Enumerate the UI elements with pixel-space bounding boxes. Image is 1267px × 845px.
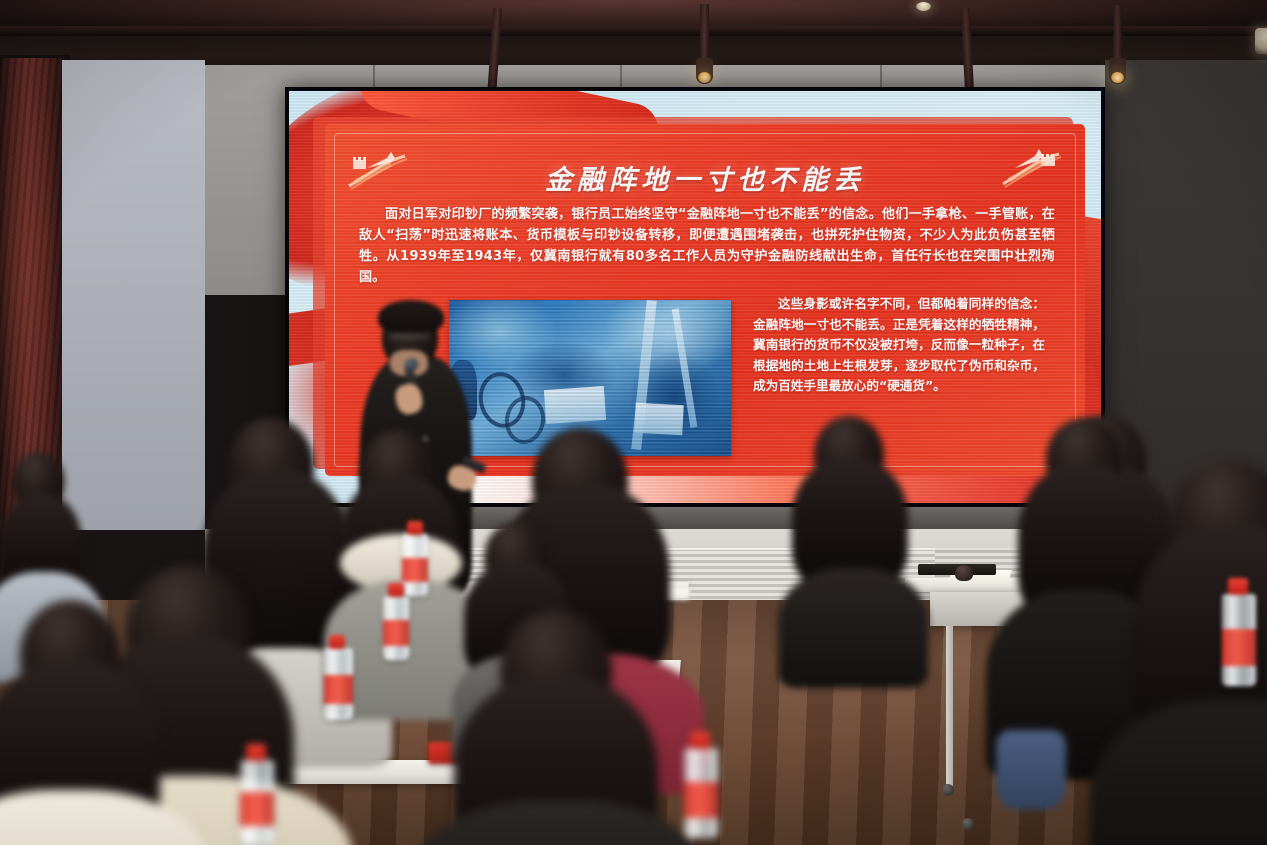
presenter-hair bbox=[378, 300, 444, 334]
bottle-cap bbox=[329, 635, 345, 649]
slide-right-paragraph: 这些身影或许名字不同，但都帕着同样的信念：金融阵地一寸也不能丢。正是凭着这样的牺… bbox=[753, 294, 1045, 397]
ceiling-light bbox=[916, 2, 931, 11]
bottle-cap bbox=[407, 521, 423, 535]
water-bottle bbox=[1222, 594, 1256, 686]
bottle-label bbox=[383, 620, 409, 646]
attendee bbox=[420, 610, 690, 845]
desk-caster bbox=[962, 818, 974, 830]
spotlight-fixture bbox=[1109, 58, 1126, 84]
desk-object bbox=[955, 565, 973, 581]
light-hanger-rod bbox=[700, 4, 709, 64]
attendee bbox=[0, 600, 190, 845]
bottle-cap bbox=[690, 732, 710, 749]
bottle-label bbox=[240, 792, 274, 826]
water-bottle bbox=[684, 748, 718, 838]
water-bottle bbox=[324, 648, 353, 720]
bottle-cap bbox=[388, 583, 404, 597]
ceiling-light bbox=[1255, 28, 1267, 54]
desk-leg bbox=[946, 626, 953, 786]
bottle-cap bbox=[1228, 578, 1248, 595]
bottle-label bbox=[1222, 629, 1256, 666]
bottle-cap bbox=[246, 744, 266, 761]
water-bottle bbox=[240, 760, 274, 845]
bottle-label bbox=[324, 675, 353, 704]
glasses-icon bbox=[388, 331, 432, 342]
spotlight-fixture bbox=[696, 58, 713, 84]
desk-caster bbox=[942, 784, 954, 796]
presentation-room-scene: 金融阵地一寸也不能丢 面对日军对印钞厂的频繁突袭，银行员工始终坚守“金融阵地一寸… bbox=[0, 0, 1267, 845]
microphone-head bbox=[405, 358, 418, 371]
slide-title: 金融阵地一寸也不能丢 bbox=[325, 158, 1085, 197]
slide-body-paragraph: 面对日军对印钞厂的频繁突袭，银行员工始终坚守“金融阵地一寸也不能丢”的信念。他们… bbox=[359, 204, 1055, 288]
attendee bbox=[780, 416, 920, 626]
water-bottle bbox=[383, 596, 409, 660]
jeans bbox=[996, 730, 1066, 810]
bottle-label bbox=[684, 782, 718, 818]
water-bottle bbox=[402, 534, 428, 596]
ceiling-beam-edge bbox=[0, 26, 1267, 36]
bottle-label bbox=[402, 558, 428, 583]
